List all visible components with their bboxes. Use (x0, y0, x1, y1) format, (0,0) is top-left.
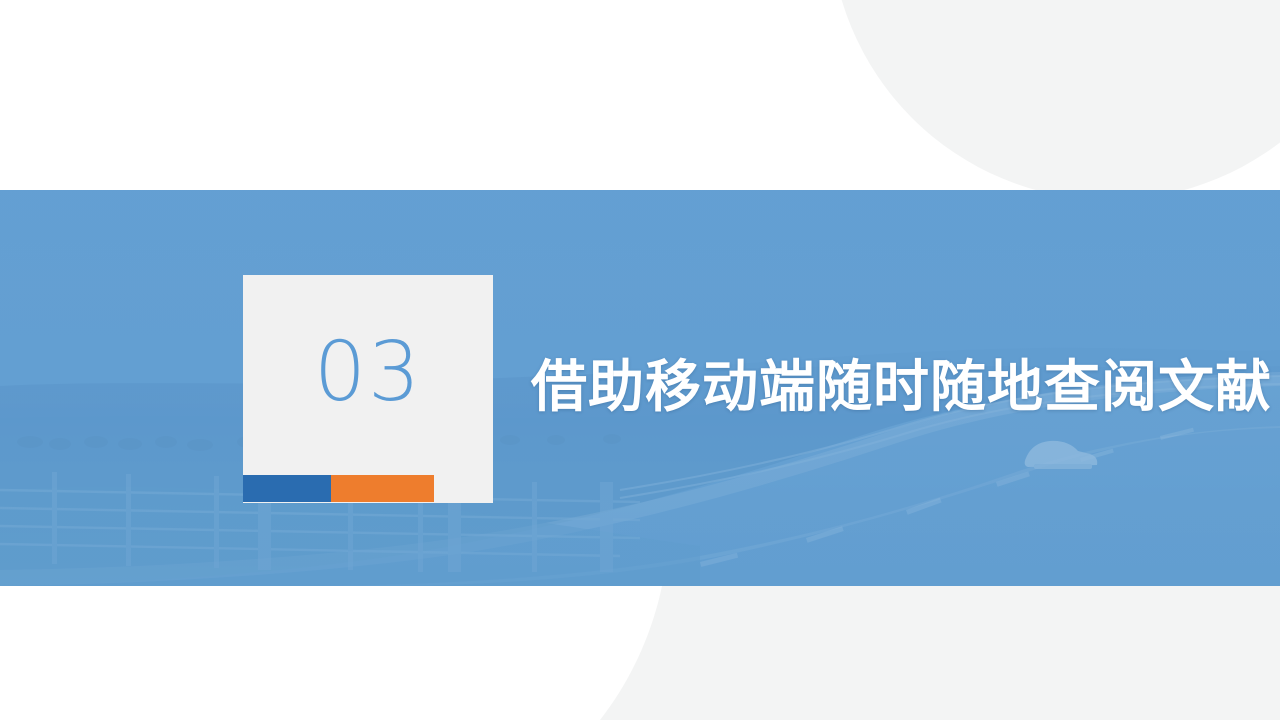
accent-bar-orange (331, 475, 434, 502)
accent-bar-group (243, 475, 434, 502)
corner-decoration-top-right (830, 0, 1280, 200)
section-title: 借助移动端随时随地查阅文献 (531, 356, 1231, 420)
accent-bar-blue (243, 475, 331, 502)
section-number: 03 (243, 275, 493, 471)
slide-root: 03 借助移动端随时随地查阅文献 (0, 0, 1280, 720)
corner-decoration-bottom-left (600, 586, 1280, 720)
section-number-card: 03 (243, 275, 493, 503)
